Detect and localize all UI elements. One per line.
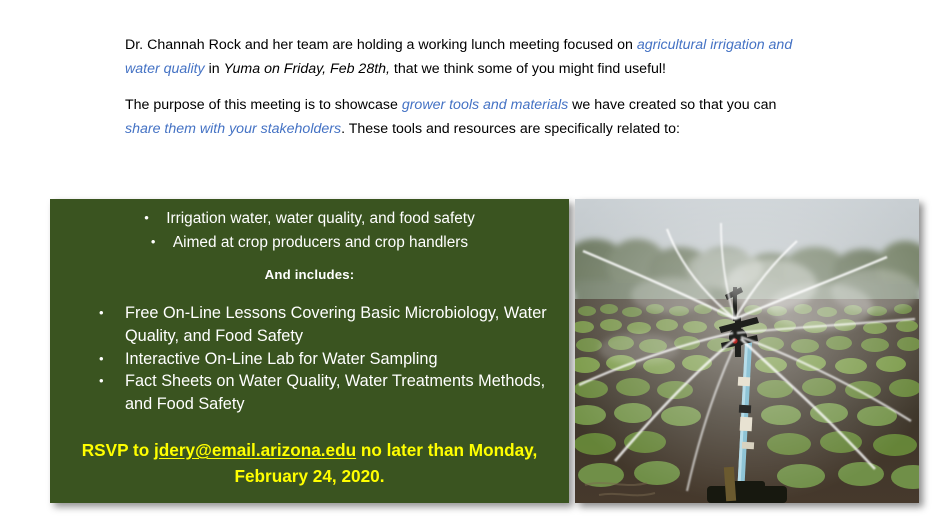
rsvp-block: RSVP to jdery@email.arizona.edu no later… [50, 437, 569, 489]
intro-paragraph-2: The purpose of this meeting is to showca… [125, 94, 797, 141]
irrigation-photo-graphic [575, 199, 919, 503]
list-item-label: Aimed at crop producers and crop handler… [173, 234, 468, 251]
bullet-marker-icon: • [151, 230, 173, 253]
intro-p2-segment-plain-1: The purpose of this meeting is to showca… [125, 97, 402, 113]
rsvp-prefix-label: RSVP to [82, 440, 154, 460]
irrigation-photo [575, 199, 919, 503]
bullet-marker-icon: • [99, 348, 104, 371]
list-item-label: Interactive On-Line Lab for Water Sampli… [125, 350, 438, 368]
list-item-label: Irrigation water, water quality, and foo… [166, 210, 475, 227]
list-item: •Fact Sheets on Water Quality, Water Tre… [84, 370, 554, 416]
intro-p1-segment-plain-1: Dr. Channah Rock and her team are holdin… [125, 37, 637, 53]
list-item: •Irrigation water, water quality, and fo… [50, 206, 569, 230]
panel-top-bullet-list: •Irrigation water, water quality, and fo… [50, 206, 569, 254]
intro-p1-emphasis-location-date: Yuma on Friday, Feb 28th, [224, 61, 390, 77]
and-includes-heading: And includes: [50, 267, 569, 282]
list-item-label: Fact Sheets on Water Quality, Water Trea… [125, 372, 545, 413]
rsvp-email-link[interactable]: jdery@email.arizona.edu [154, 440, 356, 460]
list-item: •Free On-Line Lessons Covering Basic Mic… [84, 302, 554, 348]
list-item-label: Free On-Line Lessons Covering Basic Micr… [125, 304, 547, 345]
bullet-marker-icon: • [99, 370, 104, 393]
intro-p1-segment-plain-3: that we think some of you might find use… [390, 61, 666, 77]
intro-p2-segment-plain-3: . These tools and resources are specific… [341, 121, 680, 137]
intro-p2-segment-plain-2: we have created so that you can [568, 97, 776, 113]
intro-paragraph-1: Dr. Channah Rock and her team are holdin… [125, 34, 797, 81]
intro-text-block: Dr. Channah Rock and her team are holdin… [125, 34, 797, 154]
panel-main-bullet-list: •Free On-Line Lessons Covering Basic Mic… [84, 302, 554, 416]
intro-p2-emphasis-stakeholders: share them with your stakeholders [125, 121, 341, 137]
bullet-marker-icon: • [144, 206, 166, 229]
intro-p1-segment-plain-2: in [205, 61, 224, 77]
list-item: •Aimed at crop producers and crop handle… [50, 230, 569, 254]
list-item: •Interactive On-Line Lab for Water Sampl… [84, 348, 554, 371]
green-info-panel: •Irrigation water, water quality, and fo… [50, 199, 569, 503]
bullet-marker-icon: • [99, 302, 104, 325]
intro-p2-emphasis-grower-tools: grower tools and materials [402, 97, 568, 113]
